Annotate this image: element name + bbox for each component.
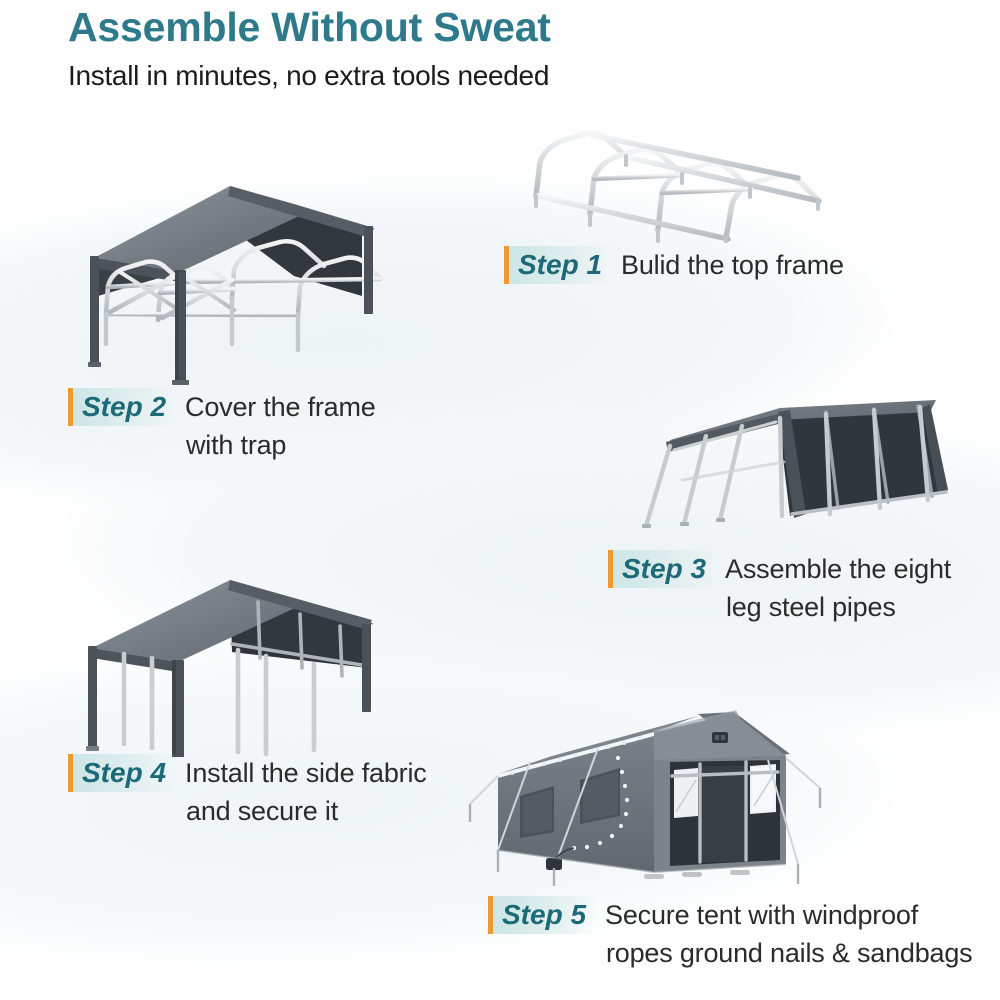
step-4-badge-label: Step 4	[73, 757, 166, 789]
step-2-text-line2: with trap	[68, 430, 376, 461]
step-4-primary-line: Step 4 Install the side fabric	[68, 754, 427, 792]
step-4-text-line2: and secure it	[68, 796, 427, 827]
step-3-primary-line: Step 3 Assemble the eight	[608, 550, 951, 588]
step-1-badge: Step 1	[504, 246, 614, 284]
step-5-text-line1: Secure tent with windproof	[598, 900, 918, 931]
step-3-text-line1: Assemble the eight	[718, 554, 951, 585]
step-caption-2: Step 2 Cover the frame with trap	[68, 388, 376, 461]
step-2-primary-line: Step 2 Cover the frame	[68, 388, 376, 426]
illustration-step-2	[62, 168, 392, 393]
step-1-text-line1: Bulid the top frame	[614, 250, 844, 281]
step-4-badge: Step 4	[68, 754, 178, 792]
step-5-badge: Step 5	[488, 896, 598, 934]
step-3-badge: Step 3	[608, 550, 718, 588]
infographic-canvas: Assemble Without Sweat Install in minute…	[0, 0, 1000, 1000]
step-caption-3: Step 3 Assemble the eight leg steel pipe…	[608, 550, 951, 623]
page-subtitle: Install in minutes, no extra tools neede…	[68, 60, 549, 92]
step-3-text-line2: leg steel pipes	[608, 592, 951, 623]
step-caption-4: Step 4 Install the side fabric and secur…	[68, 754, 427, 827]
step-3-badge-label: Step 3	[613, 553, 706, 585]
step-caption-1: Step 1 Bulid the top frame	[504, 246, 844, 284]
illustration-step-1	[530, 108, 830, 243]
step-caption-5: Step 5 Secure tent with windproof ropes …	[488, 896, 972, 969]
illustration-step-5	[468, 700, 828, 900]
step-1-primary-line: Step 1 Bulid the top frame	[504, 246, 844, 284]
step-2-badge-label: Step 2	[73, 391, 166, 423]
step-4-text-line1: Install the side fabric	[178, 758, 427, 789]
step-2-badge: Step 2	[68, 388, 178, 426]
illustration-step-3	[630, 398, 970, 568]
step-5-text-line2: ropes ground nails & sandbags	[488, 938, 972, 969]
step-1-badge-label: Step 1	[509, 249, 602, 281]
illustration-step-4	[62, 572, 392, 757]
step-5-primary-line: Step 5 Secure tent with windproof	[488, 896, 972, 934]
step-5-badge-label: Step 5	[493, 899, 586, 931]
page-title: Assemble Without Sweat	[68, 4, 551, 51]
step-2-text-line1: Cover the frame	[178, 392, 376, 423]
